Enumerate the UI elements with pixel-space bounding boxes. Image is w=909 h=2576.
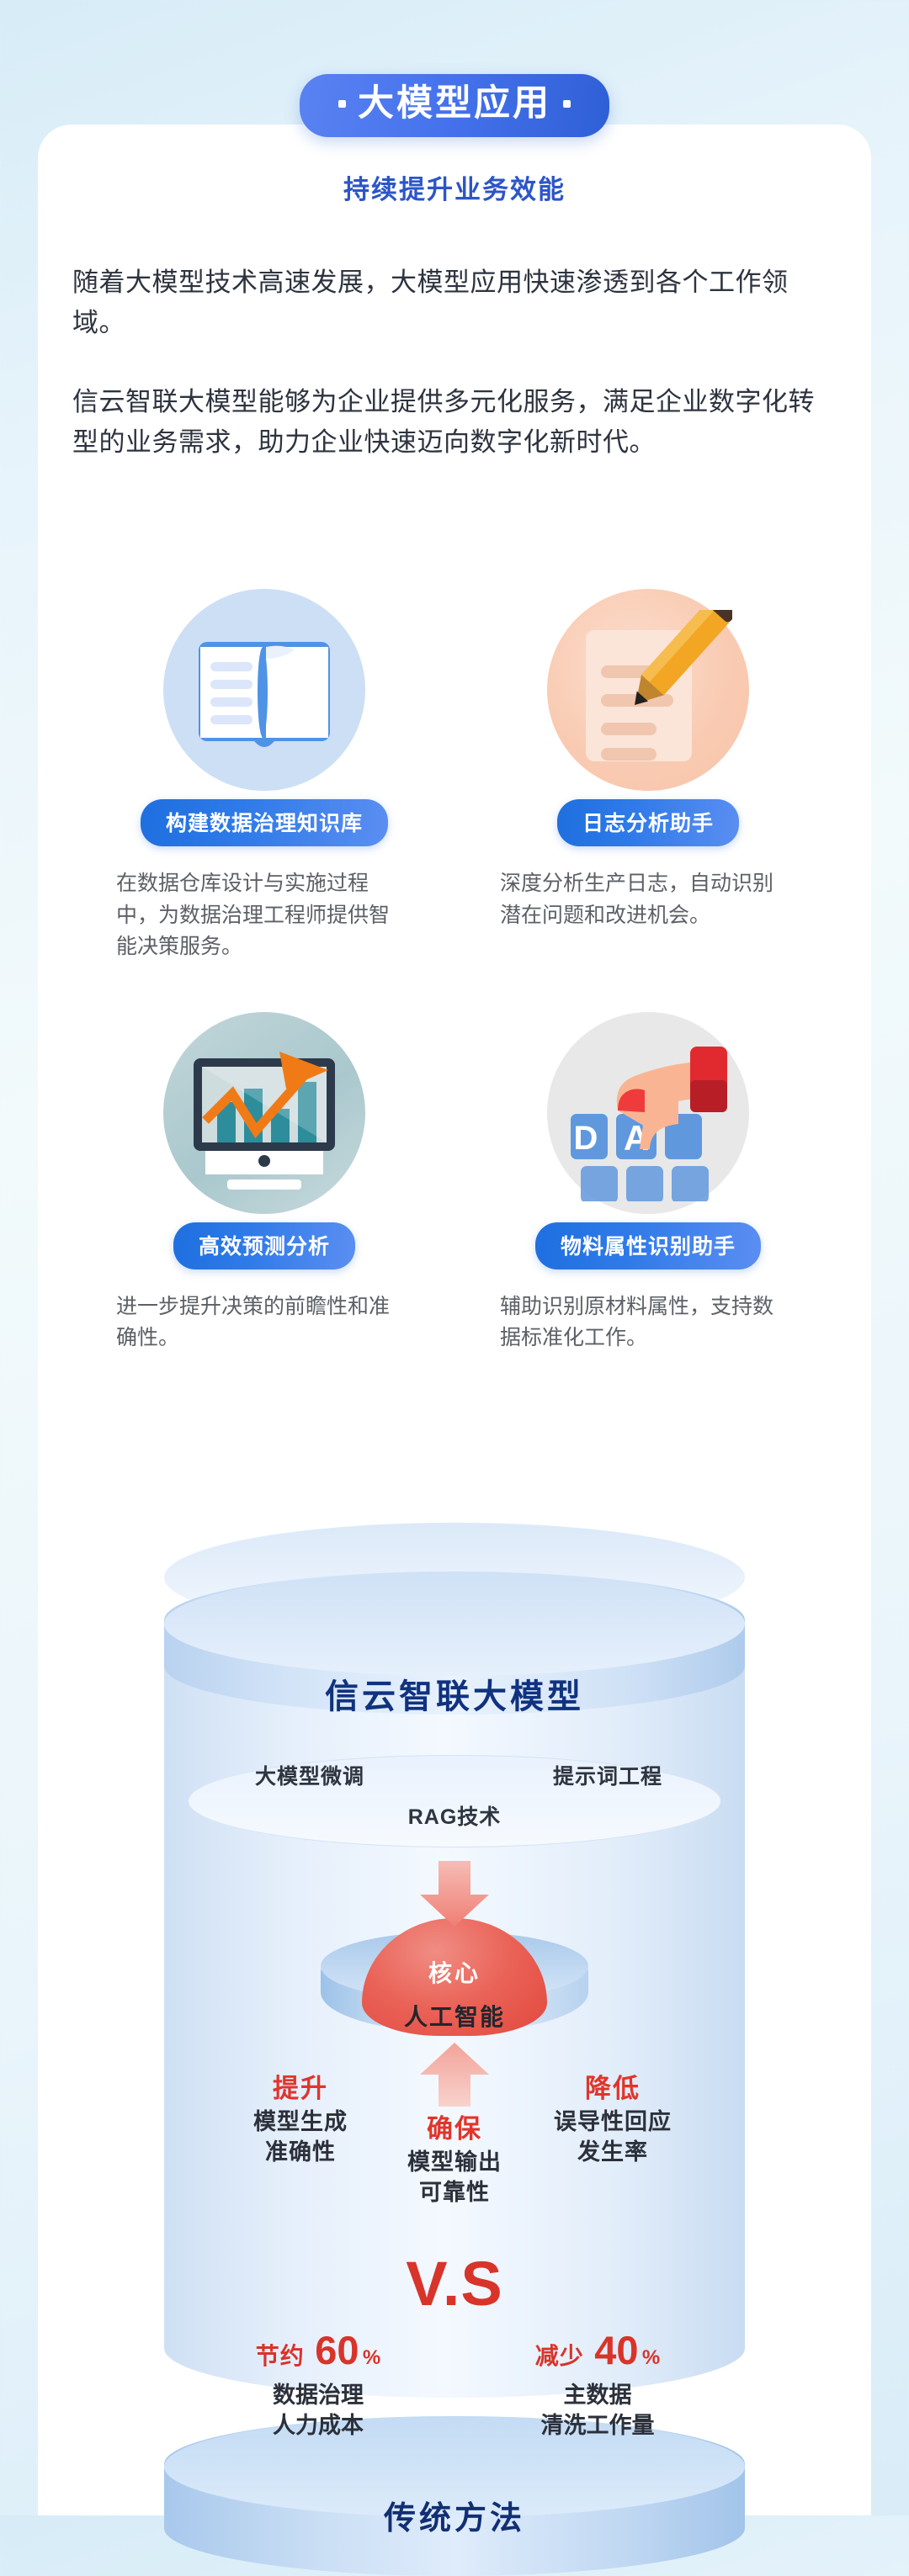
benefit-line-1: 模型生成 bbox=[216, 2107, 385, 2137]
stat-percent-sign: % bbox=[363, 2346, 380, 2369]
feature-row-1: 构建数据治理知识库 在数据仓库设计与实施过程中，为数据治理工程师提供智能决策服务… bbox=[72, 589, 840, 963]
feature-description: 在数据仓库设计与实施过程中，为数据治理工程师提供智能决策服务。 bbox=[116, 868, 402, 963]
monitor-growth-chart-icon bbox=[180, 1033, 348, 1201]
stat-headline: 减少 40 % bbox=[484, 2330, 711, 2370]
stat-description: 主数据 清洗工作量 bbox=[484, 2380, 711, 2441]
page-header: 大模型应用 持续提升业务效能 bbox=[0, 0, 909, 219]
benefit-keyword: 确保 bbox=[370, 2112, 539, 2147]
benefit-line-2: 发生率 bbox=[524, 2137, 701, 2167]
stat-description: 数据治理 人力成本 bbox=[205, 2380, 432, 2441]
feature-row-2: 高效预测分析 进一步提升决策的前瞻性和准确性。 D A bbox=[72, 1012, 840, 1354]
feature-card-material-attribute[interactable]: D A 物料属性识别助手 辅助识别原材料属性，支持数据标准化工作。 bbox=[456, 1012, 840, 1354]
feature-media bbox=[72, 589, 456, 799]
feature-description: 深度分析生产日志，自动识别潜在问题和改进机会。 bbox=[500, 868, 786, 931]
feature-media bbox=[456, 589, 840, 799]
feature-media: D A bbox=[456, 1012, 840, 1222]
open-book-icon bbox=[180, 610, 348, 778]
tech-label-rag: RAG技术 bbox=[164, 1800, 745, 1831]
bullet-left-icon bbox=[338, 100, 346, 108]
page-title-pill: 大模型应用 bbox=[300, 74, 609, 137]
model-architecture-diagram: 信云智联大模型 大模型微调 提示词工程 RAG技术 核心 人工智能 提升 模型生… bbox=[164, 1523, 745, 2465]
feature-grid: 构建数据治理知识库 在数据仓库设计与实施过程中，为数据治理工程师提供智能决策服务… bbox=[72, 589, 840, 1354]
stat-percent-sign: % bbox=[642, 2346, 660, 2369]
benefit-keyword: 降低 bbox=[524, 2071, 701, 2107]
stat-desc-line-1: 主数据 bbox=[484, 2380, 711, 2410]
intro-paragraph-1: 随着大模型技术高速发展，大模型应用快速渗透到各个工作领域。 bbox=[72, 262, 838, 343]
stat-headline: 节约 60 % bbox=[205, 2330, 432, 2370]
stat-number: 60 bbox=[315, 2328, 359, 2372]
feature-label: 构建数据治理知识库 bbox=[141, 799, 388, 846]
feature-label: 高效预测分析 bbox=[173, 1222, 355, 1269]
stat-desc-line-1: 数据治理 bbox=[205, 2380, 432, 2410]
feature-description: 辅助识别原材料属性，支持数据标准化工作。 bbox=[500, 1291, 786, 1354]
bullet-right-icon bbox=[563, 100, 571, 108]
hand-letter-block-icon: D A bbox=[564, 1033, 732, 1201]
benefit-line-2: 准确性 bbox=[216, 2137, 385, 2167]
svg-text:D: D bbox=[574, 1120, 598, 1157]
stat-verb: 减少 bbox=[535, 2343, 584, 2369]
benefit-keyword: 提升 bbox=[216, 2071, 385, 2107]
benefit-line-1: 模型输出 bbox=[370, 2147, 539, 2177]
core-label: 核心 bbox=[164, 1955, 745, 1989]
versus-label: V.S bbox=[164, 2248, 745, 2319]
feature-card-knowledge-base[interactable]: 构建数据治理知识库 在数据仓库设计与实施过程中，为数据治理工程师提供智能决策服务… bbox=[72, 589, 456, 963]
feature-card-log-analysis[interactable]: 日志分析助手 深度分析生产日志，自动识别潜在问题和改进机会。 bbox=[456, 589, 840, 963]
tech-label-finetune: 大模型微调 bbox=[255, 1760, 364, 1790]
stat-cleaning-reduction: 减少 40 % 主数据 清洗工作量 bbox=[484, 2330, 711, 2441]
page-subtitle: 持续提升业务效能 bbox=[0, 168, 909, 206]
stat-number: 40 bbox=[594, 2328, 638, 2372]
ai-label: 人工智能 bbox=[164, 1999, 745, 2033]
benefit-line-1: 误导性回应 bbox=[524, 2107, 701, 2137]
pencil-document-icon bbox=[564, 610, 732, 778]
outer-cylinder-band-top bbox=[164, 1572, 745, 1676]
stat-desc-line-2: 清洗工作量 bbox=[484, 2410, 711, 2441]
feature-label: 日志分析助手 bbox=[557, 799, 739, 846]
stat-verb: 节约 bbox=[256, 2343, 305, 2369]
tech-label-prompt: 提示词工程 bbox=[553, 1760, 662, 1790]
benefit-line-2: 可靠性 bbox=[370, 2177, 539, 2208]
arrow-down-icon bbox=[408, 1861, 501, 1928]
stat-desc-line-2: 人力成本 bbox=[205, 2410, 432, 2441]
feature-description: 进一步提升决策的前瞻性和准确性。 bbox=[116, 1291, 402, 1354]
benefit-improve: 提升 模型生成 准确性 bbox=[216, 2071, 385, 2168]
benefit-reduce: 降低 误导性回应 发生率 bbox=[524, 2071, 701, 2168]
benefit-ensure: 确保 模型输出 可靠性 bbox=[370, 2112, 539, 2208]
intro-section: 随着大模型技术高速发展，大模型应用快速渗透到各个工作领域。 信云智联大模型能够为… bbox=[72, 262, 838, 463]
intro-paragraph-2: 信云智联大模型能够为企业提供多元化服务，满足企业数字化转型的业务需求，助力企业快… bbox=[72, 382, 838, 463]
benefit-list: 提升 模型生成 准确性 确保 模型输出 可靠性 降低 误导性回应 发生率 bbox=[164, 2071, 745, 2239]
stat-cost-saving: 节约 60 % 数据治理 人力成本 bbox=[205, 2330, 432, 2441]
feature-media bbox=[72, 1012, 456, 1222]
page-title: 大模型应用 bbox=[358, 86, 551, 122]
brand-title: 信云智联大模型 bbox=[164, 1669, 745, 1718]
feature-label: 物料属性识别助手 bbox=[535, 1222, 761, 1269]
feature-card-forecast[interactable]: 高效预测分析 进一步提升决策的前瞻性和准确性。 bbox=[72, 1012, 456, 1354]
